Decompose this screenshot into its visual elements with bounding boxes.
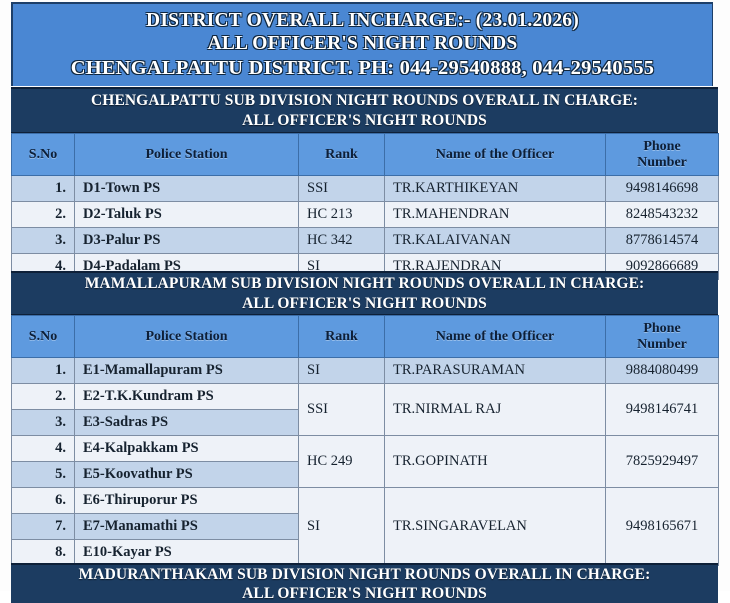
cell-rank: SSI	[299, 176, 385, 202]
cell-sno: 7.	[12, 514, 75, 540]
cell-sno: 8.	[12, 540, 75, 566]
cell-phone: 9884080499	[606, 358, 719, 384]
cell-station: E10-Kayar PS	[75, 540, 299, 566]
cell-sno: 1.	[12, 176, 75, 202]
cell-rank: SI	[299, 358, 385, 384]
cell-station: E4-Kalpakkam PS	[75, 436, 299, 462]
cell-sno: 3.	[12, 410, 75, 436]
table-row: 1. E1-Mamallapuram PS SI TR.PARASURAMAN …	[12, 358, 719, 384]
cell-station: D2-Taluk PS	[75, 202, 299, 228]
section-header-maduranthakam: MADURANTHAKAM SUB DIVISION NIGHT ROUNDS …	[11, 563, 718, 603]
section-1-title-line-1: CHENGALPATTU SUB DIVISION NIGHT ROUNDS O…	[91, 91, 638, 110]
section-1-title-line-2: ALL OFFICER'S NIGHT ROUNDS	[242, 111, 487, 130]
cell-station: E5-Koovathur PS	[75, 462, 299, 488]
cell-station: E3-Sadras PS	[75, 410, 299, 436]
table-mamallapuram: S.No Police Station Rank Name of the Off…	[11, 315, 719, 566]
cell-rank: SI	[299, 488, 385, 566]
cell-phone: 7825929497	[606, 436, 719, 488]
police-night-rounds-document: DISTRICT OVERALL INCHARGE:- (23.01.2026)…	[0, 0, 730, 591]
cell-station: E2-T.K.Kundram PS	[75, 384, 299, 410]
table-chengalpattu: S.No Police Station Rank Name of the Off…	[11, 133, 719, 280]
cell-phone: 9498146698	[606, 176, 719, 202]
table-row: 2. E2-T.K.Kundram PS SSI TR.NIRMAL RAJ 9…	[12, 384, 719, 410]
cell-phone: 8248543232	[606, 202, 719, 228]
col-header-phone: Phone Number	[606, 316, 719, 358]
cell-phone: 8778614574	[606, 228, 719, 254]
cell-officer: TR.KALAIVANAN	[385, 228, 606, 254]
table-row: 2. D2-Taluk PS HC 213 TR.MAHENDRAN 82485…	[12, 202, 719, 228]
document-title-banner: DISTRICT OVERALL INCHARGE:- (23.01.2026)…	[11, 2, 713, 86]
col-header-officer: Name of the Officer	[385, 134, 606, 176]
col-header-station: Police Station	[75, 134, 299, 176]
col-header-phone: Phone Number	[606, 134, 719, 176]
cell-station: E6-Thiruporur PS	[75, 488, 299, 514]
cell-sno: 1.	[12, 358, 75, 384]
col-header-sno: S.No	[12, 134, 75, 176]
table-row: 4. E4-Kalpakkam PS HC 249 TR.GOPINATH 78…	[12, 436, 719, 462]
cell-phone: 9498165671	[606, 488, 719, 566]
col-header-phone-line-1: Phone	[643, 139, 680, 154]
section-3-title-line-2: ALL OFFICER'S NIGHT ROUNDS	[242, 584, 487, 603]
col-header-station: Police Station	[75, 316, 299, 358]
section-header-chengalpattu: CHENGALPATTU SUB DIVISION NIGHT ROUNDS O…	[11, 87, 718, 133]
cell-rank: HC 249	[299, 436, 385, 488]
cell-officer: TR.SINGARAVELAN	[385, 488, 606, 566]
cell-station: E7-Manamathi PS	[75, 514, 299, 540]
table-row: 6. E6-Thiruporur PS SI TR.SINGARAVELAN 9…	[12, 488, 719, 514]
table-header-row: S.No Police Station Rank Name of the Off…	[12, 134, 719, 176]
col-header-officer: Name of the Officer	[385, 316, 606, 358]
cell-officer: TR.KARTHIKEYAN	[385, 176, 606, 202]
cell-officer: TR.PARASURAMAN	[385, 358, 606, 384]
col-header-rank: Rank	[299, 134, 385, 176]
cell-officer: TR.NIRMAL RAJ	[385, 384, 606, 436]
cell-station: E1-Mamallapuram PS	[75, 358, 299, 384]
table-row: 1. D1-Town PS SSI TR.KARTHIKEYAN 9498146…	[12, 176, 719, 202]
title-line-2: ALL OFFICER'S NIGHT ROUNDS	[208, 33, 518, 55]
cell-sno: 3.	[12, 228, 75, 254]
cell-station: D1-Town PS	[75, 176, 299, 202]
cell-sno: 2.	[12, 384, 75, 410]
cell-rank: HC 213	[299, 202, 385, 228]
cell-phone: 9498146741	[606, 384, 719, 436]
title-line-3: CHENGALPATTU DISTRICT. PH: 044-29540888,…	[71, 57, 654, 81]
cell-sno: 6.	[12, 488, 75, 514]
table-header-row: S.No Police Station Rank Name of the Off…	[12, 316, 719, 358]
cell-sno: 5.	[12, 462, 75, 488]
section-header-mamallapuram: MAMALLAPURAM SUB DIVISION NIGHT ROUNDS O…	[11, 271, 718, 315]
col-header-rank: Rank	[299, 316, 385, 358]
cell-rank: HC 342	[299, 228, 385, 254]
cell-station: D3-Palur PS	[75, 228, 299, 254]
col-header-phone-line-2: Number	[637, 155, 687, 170]
section-3-title-line-1: MADURANTHAKAM SUB DIVISION NIGHT ROUNDS …	[79, 565, 651, 584]
cell-officer: TR.MAHENDRAN	[385, 202, 606, 228]
cell-rank: SSI	[299, 384, 385, 436]
col-header-sno: S.No	[12, 316, 75, 358]
section-2-title-line-2: ALL OFFICER'S NIGHT ROUNDS	[242, 294, 487, 313]
table-row: 3. D3-Palur PS HC 342 TR.KALAIVANAN 8778…	[12, 228, 719, 254]
col-header-phone-line-1: Phone	[643, 321, 680, 336]
cell-officer: TR.GOPINATH	[385, 436, 606, 488]
cell-sno: 2.	[12, 202, 75, 228]
title-line-1: DISTRICT OVERALL INCHARGE:- (23.01.2026)	[146, 10, 579, 32]
col-header-phone-line-2: Number	[637, 337, 687, 352]
section-2-title-line-1: MAMALLAPURAM SUB DIVISION NIGHT ROUNDS O…	[85, 274, 645, 293]
cell-sno: 4.	[12, 436, 75, 462]
